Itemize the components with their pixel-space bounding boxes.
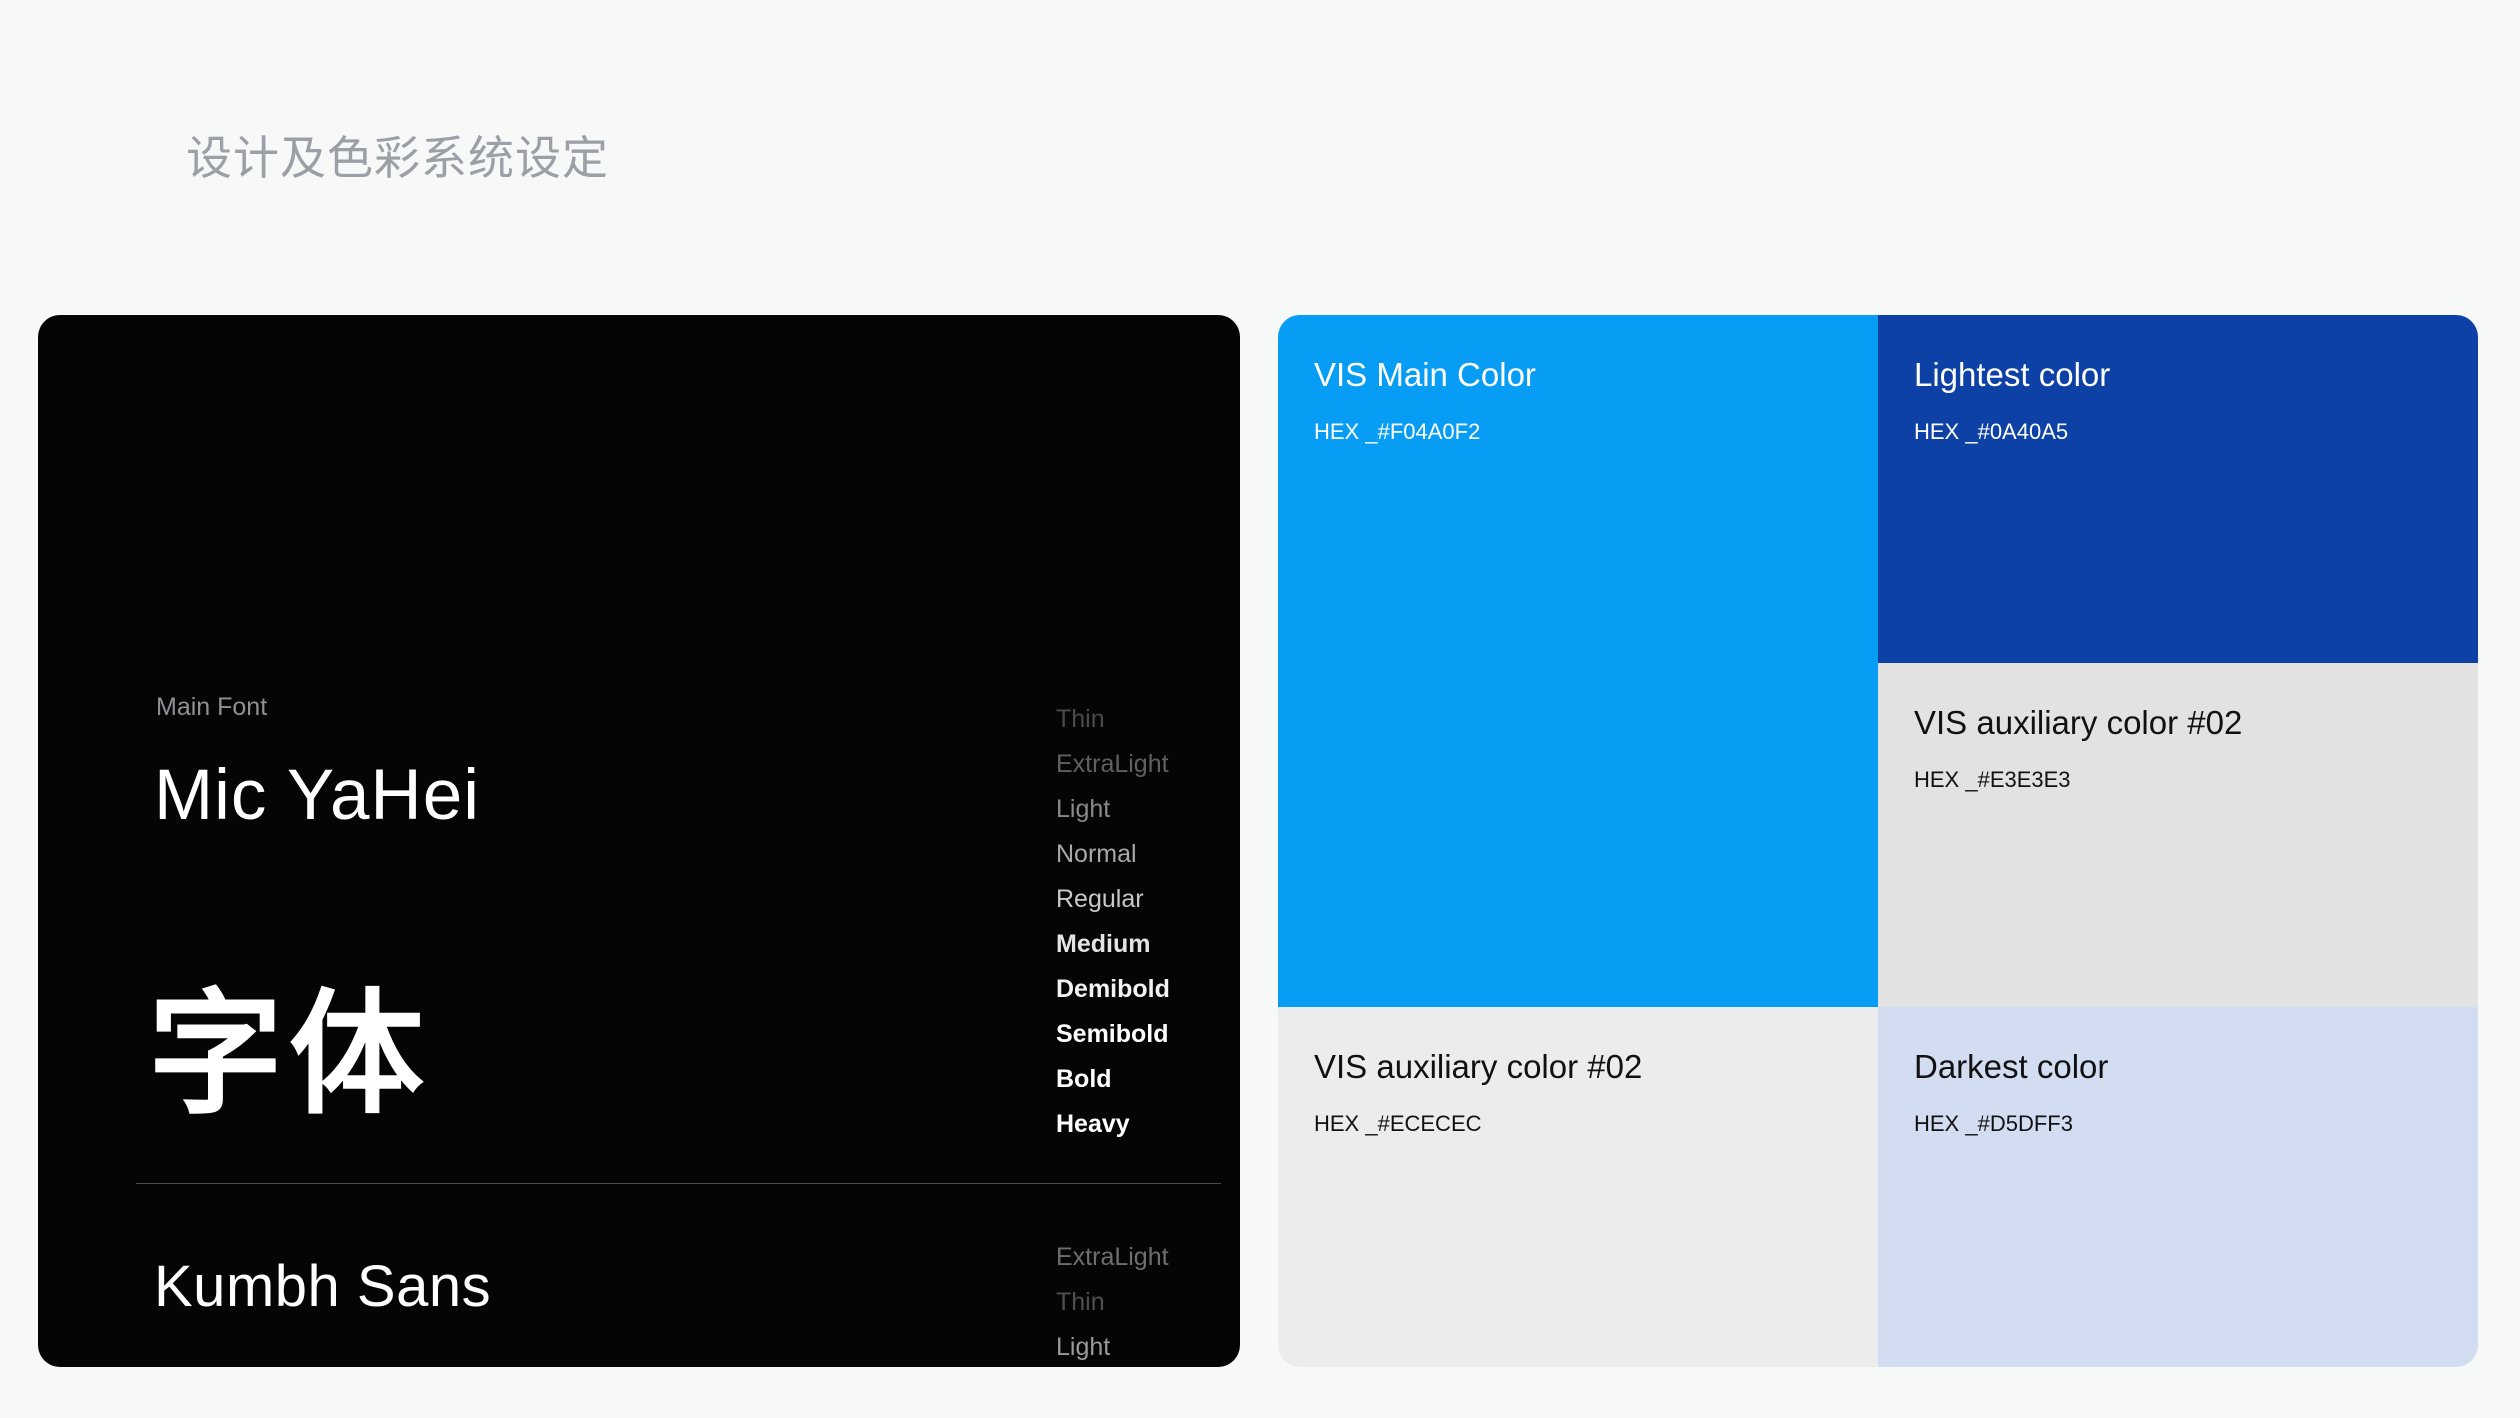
font-weight-item: Medium [1056,922,1240,967]
font-weight-item: Semibold [1056,1012,1240,1057]
font-weight-item: Light [1056,787,1240,832]
font-weight-item: Demibold [1056,967,1240,1012]
color-palette-panel: VIS Main Color HEX _#F04A0F2 Lightest co… [1278,315,2478,1367]
swatch-title: VIS auxiliary color #02 [1314,1047,1842,1087]
color-swatch-auxiliary-ececec[interactable]: VIS auxiliary color #02 HEX _#ECECEC [1278,1007,1878,1367]
font-weight-item: Regular [1056,877,1240,922]
color-swatch-darkest[interactable]: Darkest color HEX _#D5DFF3 [1878,1007,2478,1367]
section-divider [136,1183,1221,1184]
color-swatch-lightest[interactable]: Lightest color HEX _#0A40A5 [1878,315,2478,663]
font-weight-item: Heavy [1056,1102,1240,1147]
swatch-title: VIS Main Color [1314,355,1842,395]
font-weight-item: ExtraLight [1056,1235,1240,1280]
typography-panel: Main Font Mic YaHei 字体 Kumbh Sans Fonts … [38,315,1240,1367]
font-weight-item: Light [1056,1325,1240,1367]
swatch-hex-label: HEX _#0A40A5 [1914,419,2442,445]
swatch-hex-label: HEX _#D5DFF3 [1914,1111,2442,1137]
font-weight-item: Thin [1056,1280,1240,1325]
swatch-hex-label: HEX _#ECECEC [1314,1111,1842,1137]
font-weight-item: Thin [1056,697,1240,742]
main-font-name: Mic YaHei [154,755,480,836]
font-weight-item: Normal [1056,832,1240,877]
secondary-font-name: Kumbh Sans [154,1253,491,1320]
font-weight-item: ExtraLight [1056,742,1240,787]
cjk-font-sample: 字体 [148,987,430,1122]
swatch-title: Lightest color [1914,355,2442,395]
swatch-title: Darkest color [1914,1047,2442,1087]
page-title: 设计及色彩系统设定 [186,131,609,186]
color-swatch-vis-main[interactable]: VIS Main Color HEX _#F04A0F2 [1278,315,1878,1007]
primary-font-weight-list: ThinExtraLightLightNormalRegularMediumDe… [1056,697,1240,1147]
main-font-label: Main Font [156,693,267,722]
swatch-hex-label: HEX _#F04A0F2 [1314,419,1842,445]
swatch-title: VIS auxiliary color #02 [1914,703,2442,743]
design-system-board: 设计及色彩系统设定 Main Font Mic YaHei 字体 Kumbh S… [0,0,2520,1418]
color-swatch-auxiliary-e3e3e3[interactable]: VIS auxiliary color #02 HEX _#E3E3E3 [1878,663,2478,1007]
font-weight-item: Bold [1056,1057,1240,1102]
secondary-font-weight-list: ExtraLightThinLightRegularMediumSemiBold… [1056,1235,1240,1367]
swatch-hex-label: HEX _#E3E3E3 [1914,767,2442,793]
